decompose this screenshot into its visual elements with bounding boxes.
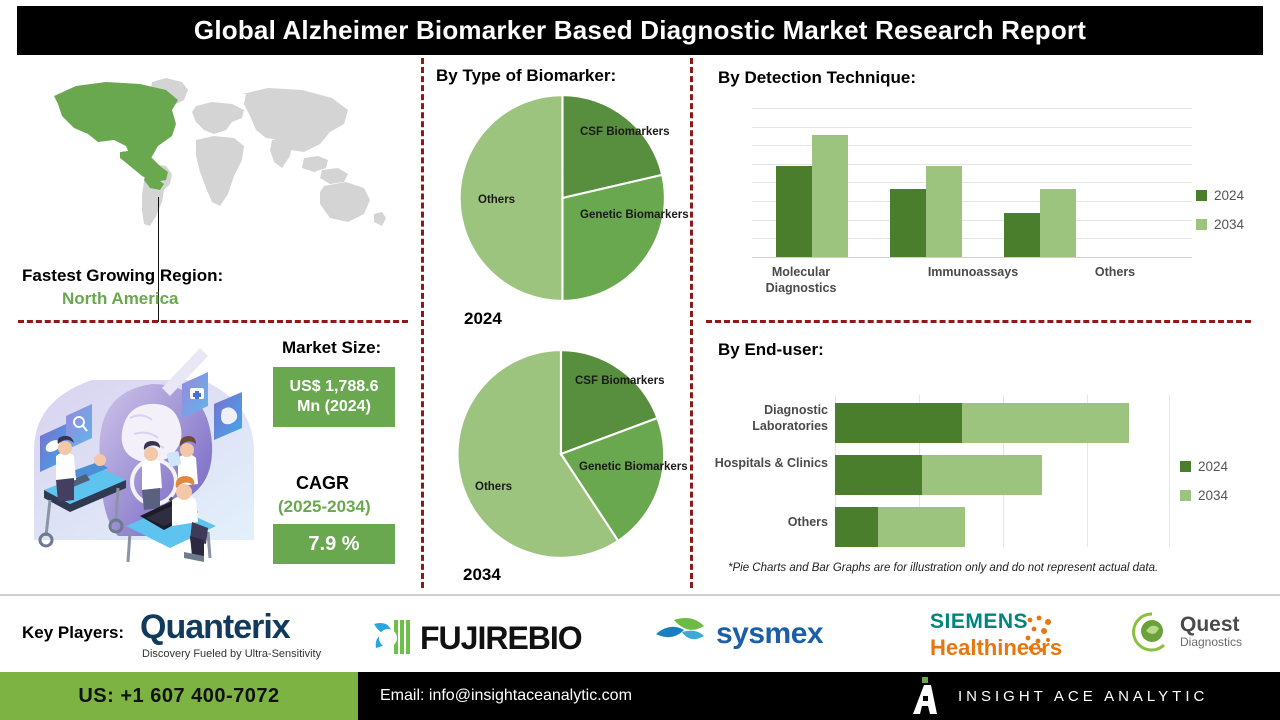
legend-swatch-2034-icon xyxy=(1180,490,1191,501)
pie-2024-others-text: Others xyxy=(478,194,515,206)
pie-2024-label-others: Others xyxy=(478,193,515,207)
legend-item-2024: 2024 xyxy=(1196,188,1244,203)
enduser-section-title: By End-user: xyxy=(718,340,824,360)
market-size-line1: US$ 1,788.6 xyxy=(290,377,379,397)
logo-quanterix: Quanterix Discovery Fueled by Ultra-Sens… xyxy=(140,608,321,660)
bar-immunoassays-2034 xyxy=(926,166,962,257)
pie-2024-label-genetic: Genetic Biomarkers xyxy=(580,208,689,222)
cagr-label: CAGR xyxy=(296,473,349,494)
enduser-legend: 2024 2034 xyxy=(1180,459,1228,517)
legend-label-2024: 2024 xyxy=(1198,459,1228,474)
legend-item-2034: 2034 xyxy=(1196,217,1244,232)
pie-2034-others-text: Others xyxy=(475,481,512,493)
divider-horizontal-right xyxy=(706,320,1251,323)
logo-quest-tagline: Diagnostics xyxy=(1180,635,1242,649)
email-address: Email: info@insightaceanalytic.com xyxy=(380,687,632,705)
biomarker-section-title: By Type of Biomarker: xyxy=(436,66,616,86)
bar-hospitals-2034 xyxy=(922,455,1042,495)
pie-2024-genetic-text: Genetic Biomarkers xyxy=(580,209,689,221)
fastest-growing-region-label: Fastest Growing Region: xyxy=(22,266,223,286)
legend-item-2034: 2034 xyxy=(1180,488,1228,503)
quest-mark-icon xyxy=(1130,610,1174,654)
divider-vertical-left xyxy=(421,58,424,588)
bar-others-enduser-2024 xyxy=(835,507,878,547)
logo-quest-diagnostics: Quest Diagnostics xyxy=(1130,610,1242,654)
market-size-value: US$ 1,788.6 Mn (2024) xyxy=(273,367,395,427)
cagr-value: 7.9 % xyxy=(273,524,395,564)
enduser-category-others: Others xyxy=(708,515,828,531)
detection-legend: 2024 2034 xyxy=(1196,188,1244,246)
infographic-page: Global Alzheimer Biomarker Based Diagnos… xyxy=(0,0,1280,720)
legend-swatch-2024-icon xyxy=(1196,190,1207,201)
legend-label-2034: 2034 xyxy=(1198,488,1228,503)
gridline xyxy=(1169,395,1170,547)
logo-sysmex: sysmex xyxy=(654,614,823,654)
brand-name: INSIGHT ACE ANALYTIC xyxy=(958,688,1208,705)
logo-quest-name: Quest xyxy=(1180,614,1242,635)
detection-section-title: By Detection Technique: xyxy=(718,68,916,88)
legend-label-2024: 2024 xyxy=(1214,188,1244,203)
phone-block: US: +1 607 400-7072 xyxy=(0,672,358,720)
bar-immunoassays-2024 xyxy=(890,189,926,257)
divider-horizontal-left xyxy=(18,320,408,323)
pie-2034-label-csf: CSF Biomarkers xyxy=(575,374,664,388)
bar-others-enduser-2034 xyxy=(878,507,965,547)
page-title-bar: Global Alzheimer Biomarker Based Diagnos… xyxy=(17,6,1263,55)
phone-number: US: +1 607 400-7072 xyxy=(78,685,279,708)
pie-2034-year: 2034 xyxy=(463,565,501,585)
market-size-label: Market Size: xyxy=(282,338,381,358)
pie-chart-2024: CSF Biomarkers Genetic Biomarkers Others xyxy=(450,93,675,303)
logo-quanterix-name: Quanterix xyxy=(140,608,290,647)
logo-fujirebio: FUJIREBIO xyxy=(372,618,582,658)
gridline xyxy=(752,108,1192,109)
legend-label-2034: 2034 xyxy=(1214,217,1244,232)
pie-2034-label-others: Others xyxy=(475,480,512,494)
logo-quanterix-tagline: Discovery Fueled by Ultra-Sensitivity xyxy=(142,648,321,660)
bar-others-2024 xyxy=(1004,213,1040,257)
insightace-logo-icon xyxy=(910,676,940,716)
sysmex-mark-icon xyxy=(654,614,712,654)
email-brand-block: Email: info@insightaceanalytic.com INSIG… xyxy=(358,672,1280,720)
logo-siemens-name: SIEMENS xyxy=(930,610,1028,634)
legend-swatch-2034-icon xyxy=(1196,219,1207,230)
key-players-strip: Key Players: Quanterix Discovery Fueled … xyxy=(0,594,1280,672)
bar-molecular-2034 xyxy=(812,135,848,257)
detection-bar-chart xyxy=(752,108,1192,258)
detection-category-immunoassays: Immunoassays xyxy=(908,265,1038,281)
pie-2034-label-genetic: Genetic Biomarkers xyxy=(579,460,688,474)
pie-2024-csf-text: CSF Biomarkers xyxy=(580,126,669,138)
key-players-label: Key Players: xyxy=(22,623,124,643)
bar-diagnostic-labs-2034 xyxy=(962,403,1129,443)
fujirebio-mark-icon xyxy=(372,618,414,658)
gridline xyxy=(752,127,1192,128)
fastest-growing-region-value: North America xyxy=(62,289,179,309)
detection-category-molecular: Molecular Diagnostics xyxy=(736,265,866,296)
contact-bar: US: +1 607 400-7072 Email: info@insighta… xyxy=(0,672,1280,720)
logo-fujirebio-name: FUJIREBIO xyxy=(420,620,582,657)
legend-swatch-2024-icon xyxy=(1180,461,1191,472)
chart-footnote: *Pie Charts and Bar Graphs are for illus… xyxy=(728,562,1158,574)
pie-2034-genetic-text: Genetic Biomarkers xyxy=(579,461,688,473)
divider-vertical-right xyxy=(690,58,693,588)
market-size-line2: Mn (2024) xyxy=(297,397,371,417)
x-axis xyxy=(752,257,1192,258)
legend-item-2024: 2024 xyxy=(1180,459,1228,474)
page-title: Global Alzheimer Biomarker Based Diagnos… xyxy=(194,15,1086,46)
pie-2024-label-csf: CSF Biomarkers xyxy=(580,125,669,139)
enduser-category-diagnostic-labs: Diagnostic Laboratories xyxy=(708,403,828,434)
healthineers-dots-icon xyxy=(1022,614,1066,658)
bar-molecular-2024 xyxy=(776,166,812,257)
detection-category-others: Others xyxy=(1050,265,1180,281)
pie-2034-csf-text: CSF Biomarkers xyxy=(575,375,664,387)
world-map xyxy=(36,66,396,246)
logo-sysmex-name: sysmex xyxy=(716,617,823,651)
pie-chart-2034: CSF Biomarkers Genetic Biomarkers Others xyxy=(447,348,675,560)
enduser-bar-chart xyxy=(835,395,1170,547)
bar-hospitals-2024 xyxy=(835,455,922,495)
medical-illustration xyxy=(22,340,272,575)
cagr-period: (2025-2034) xyxy=(278,497,371,517)
bar-diagnostic-labs-2024 xyxy=(835,403,962,443)
enduser-category-hospitals: Hospitals & Clinics xyxy=(708,456,828,472)
bar-others-2034 xyxy=(1040,189,1076,257)
brand-block: INSIGHT ACE ANALYTIC xyxy=(910,676,1208,716)
pie-2024-year: 2024 xyxy=(464,309,502,329)
